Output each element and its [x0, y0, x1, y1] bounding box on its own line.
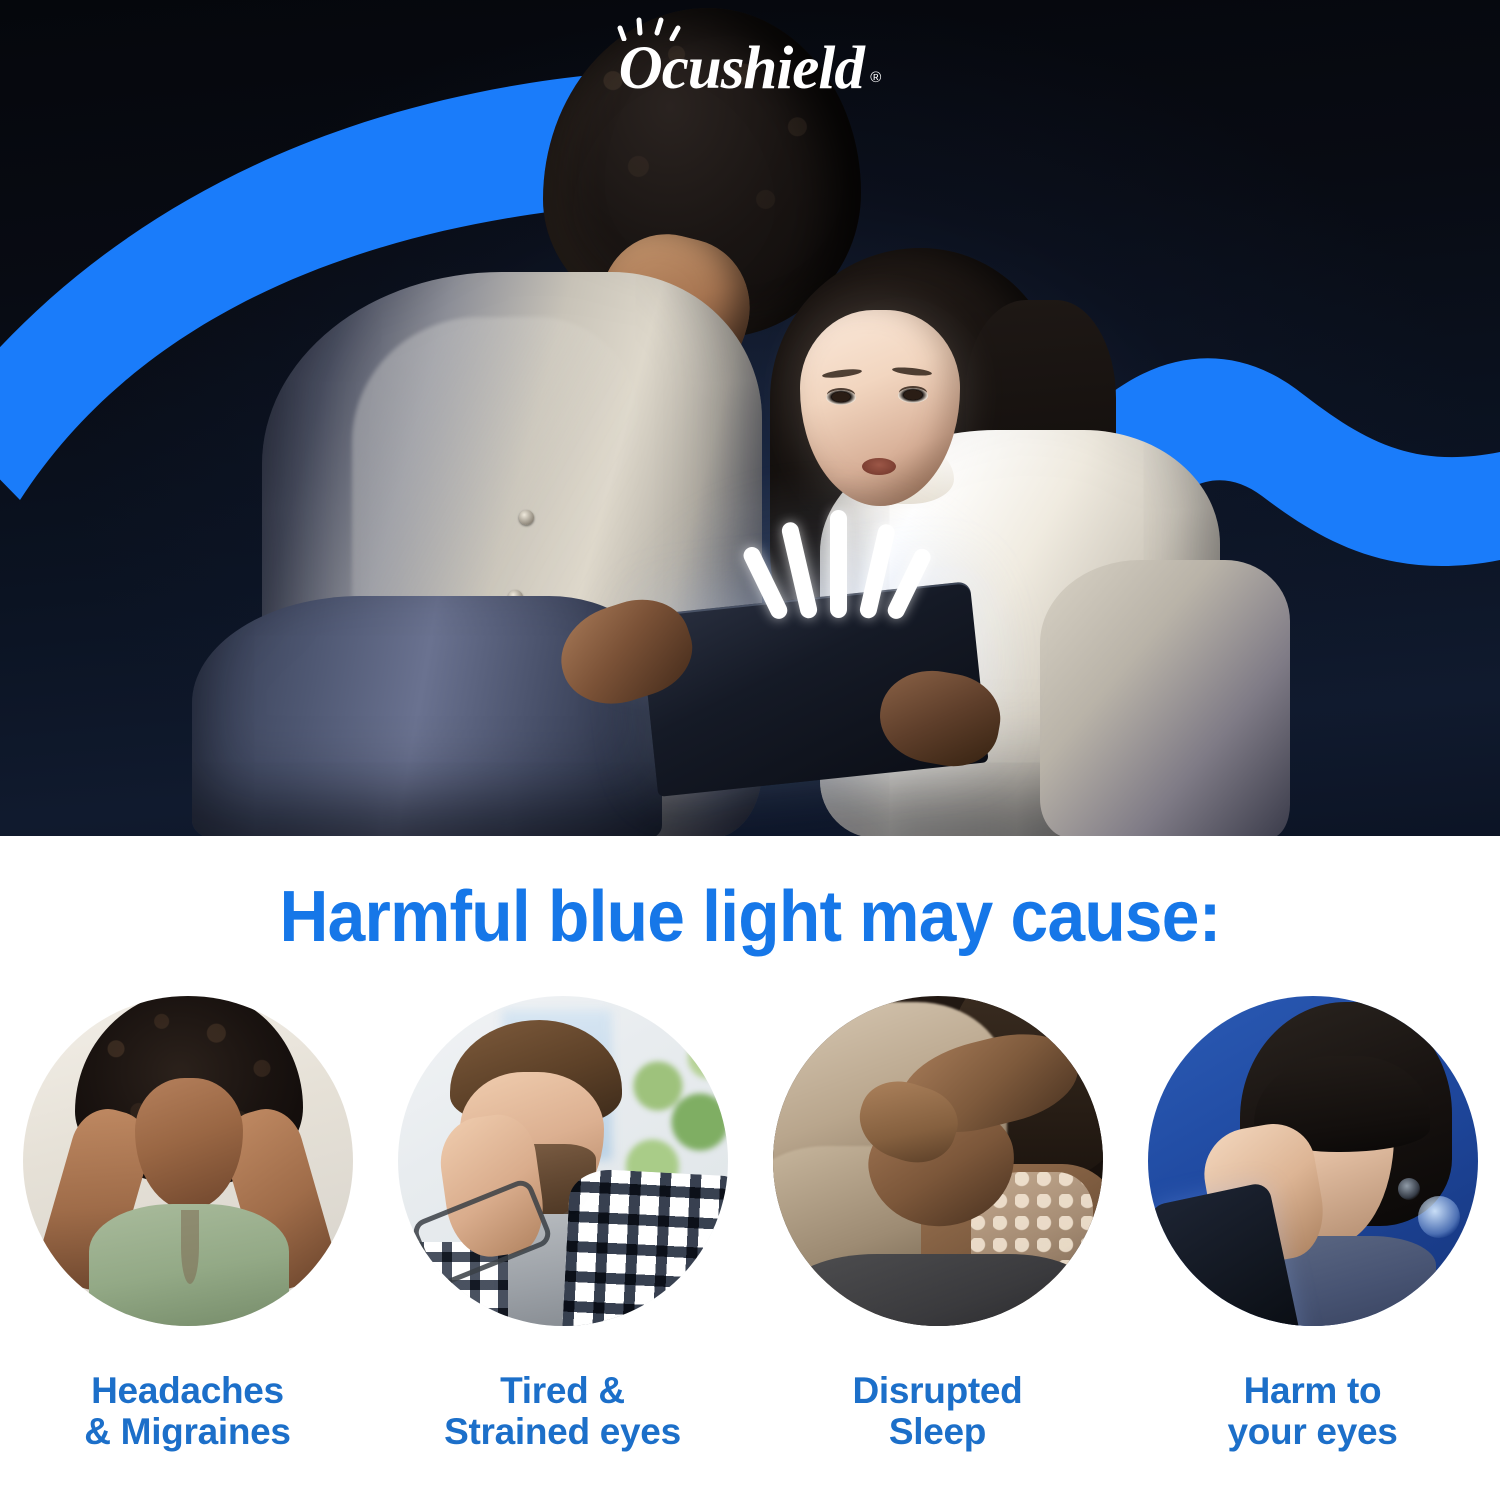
woman-awake-in-bed-photo [773, 996, 1103, 1326]
jacket-button [519, 510, 534, 525]
symptom-caption: Headaches & Migraines [84, 1370, 290, 1453]
girl-eye-left [826, 390, 856, 405]
symptom-caption: Harm to your eyes [1227, 1370, 1397, 1453]
hero-banner: Ocushield ® [0, 0, 1500, 836]
girl-brow-left [822, 368, 863, 380]
man-pinching-nose-bridge-photo [398, 996, 728, 1326]
symptom-card-tired-eyes[interactable]: Tired & Strained eyes [375, 996, 750, 1453]
brand-name: Ocushield [619, 35, 864, 102]
symptom-caption: Disrupted Sleep [853, 1370, 1023, 1453]
girl-arm [1040, 560, 1290, 836]
girl-lips [862, 458, 896, 475]
brand-logo[interactable]: Ocushield ® [0, 34, 1500, 104]
symptom-card-headaches[interactable]: Headaches & Migraines [0, 996, 375, 1453]
registered-trademark-symbol: ® [870, 69, 881, 86]
symptom-card-harm-to-eyes[interactable]: Harm to your eyes [1125, 996, 1500, 1453]
hero-subjects [0, 0, 1500, 836]
girl-eye-right [898, 388, 928, 403]
symptom-card-row: Headaches & Migraines Tired & Strained e… [0, 996, 1500, 1453]
woman-holding-temples-photo [23, 996, 353, 1326]
symptom-caption: Tired & Strained eyes [444, 1370, 681, 1453]
sun-rays-icon [615, 15, 681, 41]
symptom-card-disrupted-sleep[interactable]: Disrupted Sleep [750, 996, 1125, 1453]
blue-light-rays-icon [770, 498, 910, 618]
page-headline: Harmful blue light may cause: [45, 876, 1455, 958]
woman-with-phone-rubbing-eyes-photo [1148, 996, 1478, 1326]
benefits-section: Harmful blue light may cause: Headaches … [0, 836, 1500, 1500]
girl-brow-right [892, 366, 933, 377]
